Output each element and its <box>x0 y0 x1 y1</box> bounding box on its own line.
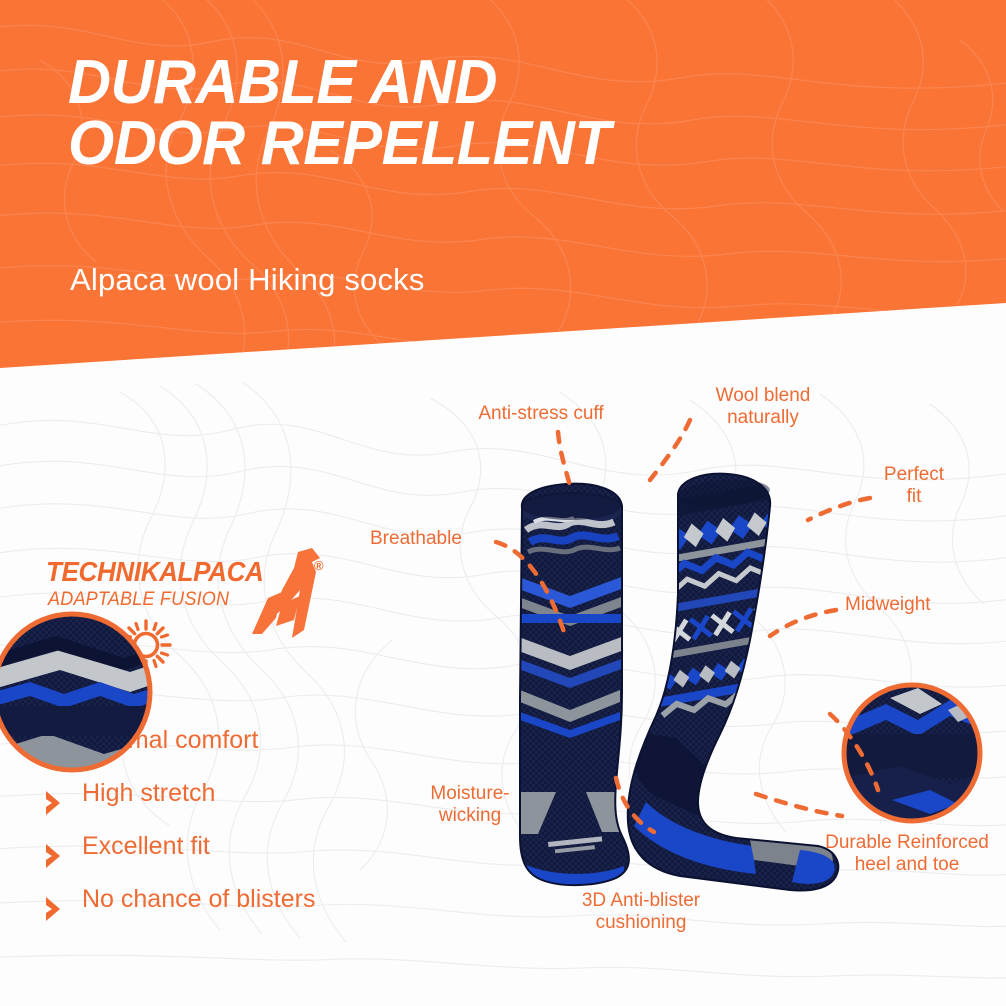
hero-banner: DURABLE AND ODOR REPELLENT Alpaca wool H… <box>0 0 1006 380</box>
callout-3d-anti-blister-cushioning: 3D Anti-blister cushioning <box>551 890 731 935</box>
product-illustration <box>0 370 1006 1006</box>
hero-subtitle: Alpaca wool Hiking socks <box>70 262 425 298</box>
callout-breathable: Breathable <box>370 528 510 550</box>
leader-anti-stress-cuff <box>558 432 570 486</box>
callout-anti-stress-cuff: Anti-stress cuff <box>456 403 626 425</box>
knit-detail-right-magnifier <box>844 685 984 825</box>
page-title: DURABLE AND ODOR REPELLENT <box>68 52 610 175</box>
callout-durable-reinforced-heel-and-toe: Durable Reinforced heel and toe <box>818 832 996 877</box>
sock-front-view <box>510 470 640 900</box>
leader-wool-blend <box>650 420 690 480</box>
leader-midweight <box>770 610 836 636</box>
callout-midweight: Midweight <box>845 594 985 616</box>
callout-perfect-fit: Perfect fit <box>862 464 966 509</box>
leader-perfect-fit <box>808 498 870 520</box>
leader-heel-toe-outer <box>756 794 842 816</box>
callout-wool-blend-naturally: Wool blend naturally <box>688 385 838 430</box>
callout-moisture-wicking: Moisture- wicking <box>400 783 540 828</box>
infographic-canvas: DURABLE AND ODOR REPELLENT Alpaca wool H… <box>0 0 1006 1006</box>
knit-detail-left-magnifier <box>0 610 160 780</box>
